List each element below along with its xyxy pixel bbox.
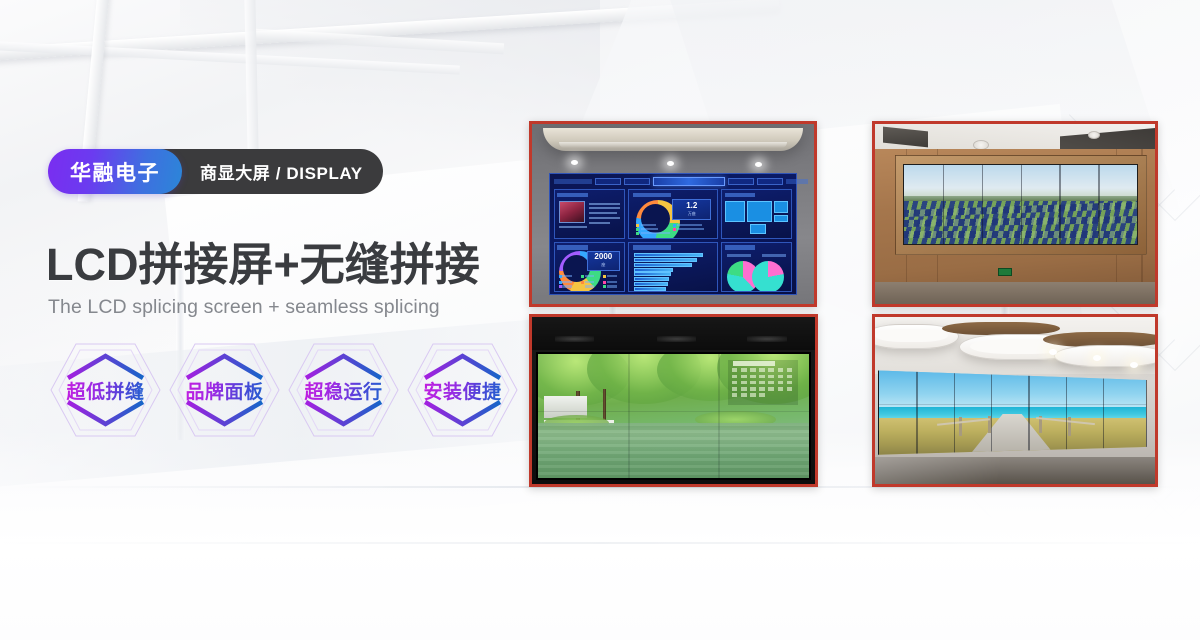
bezel-seam [991, 370, 993, 455]
legend-label [585, 281, 595, 283]
bezel-seam [1021, 165, 1023, 244]
kpi-unit: 万座 [688, 211, 696, 217]
video-wall-display [878, 369, 1147, 456]
legend-label [677, 228, 703, 230]
legend-label [585, 285, 595, 287]
legend-label [562, 275, 572, 277]
bezel-seam [628, 354, 630, 478]
video-wall-display [903, 164, 1138, 245]
dashboard-panel-flow [721, 189, 793, 239]
downlight-icon [755, 162, 762, 167]
photo-image [532, 317, 815, 484]
legend-label [641, 228, 659, 230]
floor [875, 457, 1155, 484]
pie-chart [752, 261, 784, 292]
bezel-seam [1103, 370, 1105, 455]
legend-label [562, 281, 572, 283]
bar-chart-bar [634, 277, 669, 281]
legend-dot [636, 232, 639, 235]
legend-label [585, 275, 595, 277]
bezel-seam [943, 165, 945, 244]
brand-name-badge[interactable]: 华融电子 [48, 149, 182, 194]
legend-dot [636, 228, 639, 231]
photo-willow-lake-video-wall[interactable] [529, 314, 818, 487]
dashboard-screen: 1.2 万座 [549, 173, 797, 295]
upper-bezel-band [532, 317, 815, 350]
fence-post [959, 417, 962, 436]
photo-control-room-dashboard[interactable]: 1.2 万座 [529, 121, 817, 307]
dashboard-panel-grid: 1.2 万座 [554, 189, 793, 291]
bezel-seam [1028, 370, 1030, 455]
legend-dot [673, 224, 676, 227]
dashboard-tab [595, 178, 621, 186]
panel-text-line [559, 226, 587, 228]
banner-stage: 华融电子 商显大屏 / DISPLAY LCD拼接屏+无缝拼接 The LCD … [0, 0, 1200, 640]
panel-text-line [589, 212, 617, 214]
category-badge[interactable]: 商显大屏 / DISPLAY [158, 149, 383, 194]
legend-label [562, 285, 572, 287]
panel-text-line [589, 222, 610, 224]
photo-image [875, 317, 1155, 484]
flow-node [725, 201, 744, 222]
floor [875, 282, 1155, 304]
dashboard-status [786, 179, 807, 184]
dashboard-header [554, 176, 793, 187]
kpi-value: 2000 [594, 253, 612, 261]
legend-label [607, 275, 617, 277]
photo-image [875, 124, 1155, 304]
bar-chart-bar [634, 263, 692, 267]
legend-label [641, 224, 657, 226]
legend-label [762, 254, 786, 256]
ceiling-light-fixture [1054, 345, 1155, 367]
bezel-seam [718, 354, 720, 478]
bar-chart-bar [634, 258, 697, 262]
legend-label [641, 232, 671, 234]
feature-badge-label: 安装便捷 [423, 377, 501, 404]
photo-image: 1.2 万座 [532, 124, 814, 304]
panel-text-line [589, 217, 620, 219]
dashboard-panel-donut-kpi: 1.2 万座 [628, 189, 718, 239]
calendar-title [733, 361, 775, 366]
panel-text-line [589, 207, 620, 209]
photo-lobby-beach-video-wall[interactable] [872, 314, 1158, 487]
bezel-seam [982, 165, 984, 244]
panel-text-line [589, 203, 620, 205]
bezel-seam [916, 370, 918, 455]
dashboard-panel-bar-chart [628, 242, 718, 292]
bezel-seam [879, 404, 1146, 406]
feature-badge-label: 超低拼缝 [66, 377, 144, 404]
legend-dot [636, 224, 639, 227]
bezel-seam [1066, 370, 1068, 455]
donut-chart-hole [563, 255, 590, 282]
dashboard-timestamp [554, 179, 592, 184]
legend-label [607, 281, 617, 283]
feature-badge-label: 超稳运行 [304, 377, 382, 404]
kpi-value: 1.2 [686, 202, 697, 210]
panel-thumbnail [559, 201, 585, 223]
bar-chart-bar [634, 272, 671, 276]
feature-badge-label: 品牌面板 [185, 377, 263, 404]
kpi-unit: 座 [601, 262, 605, 268]
flow-node [750, 224, 767, 234]
bezel-seam [954, 370, 956, 455]
ceiling-spotlight-icon [1049, 349, 1057, 355]
dashboard-panel-intro [554, 189, 626, 239]
flow-node [774, 201, 788, 213]
bar-chart-bar [634, 253, 702, 257]
dashboard-title [653, 177, 725, 185]
ceiling-cove [543, 128, 802, 151]
kpi-box: 2000 座 [587, 251, 620, 271]
flow-node [747, 201, 772, 222]
legend-dot [673, 228, 676, 231]
legend-label [727, 254, 751, 256]
dashboard-tab [624, 178, 650, 186]
kpi-box: 1.2 万座 [672, 199, 711, 220]
dashboard-panel-donut-kpi-2: 2000 座 [554, 242, 626, 292]
bezel-seam [1098, 165, 1100, 244]
photo-corridor-solar-video-wall[interactable] [872, 121, 1158, 307]
brand-badge-row: 华融电子 商显大屏 / DISPLAY [48, 149, 383, 194]
dashboard-tab [728, 178, 754, 186]
ceiling-light-inner [875, 329, 948, 342]
exit-sign-icon [998, 268, 1012, 276]
dashboard-panel-pie-charts [721, 242, 793, 292]
lake-water [538, 423, 809, 477]
ceiling-spotlight-icon [1130, 362, 1138, 368]
legend-label [607, 285, 617, 287]
bezel-seam [538, 411, 809, 413]
dashboard-tab [757, 178, 783, 186]
bar-chart-bar [634, 268, 673, 272]
ceiling-speaker-icon [1088, 131, 1100, 139]
product-photo-grid: 1.2 万座 [0, 0, 1200, 640]
video-wall-display [536, 352, 811, 480]
flow-node [774, 215, 788, 222]
calendar-overlay [728, 360, 798, 405]
legend-label [677, 224, 702, 226]
bar-chart-bar [634, 282, 667, 286]
bezel-seam [1059, 165, 1061, 244]
bar-chart-bar [634, 287, 666, 291]
